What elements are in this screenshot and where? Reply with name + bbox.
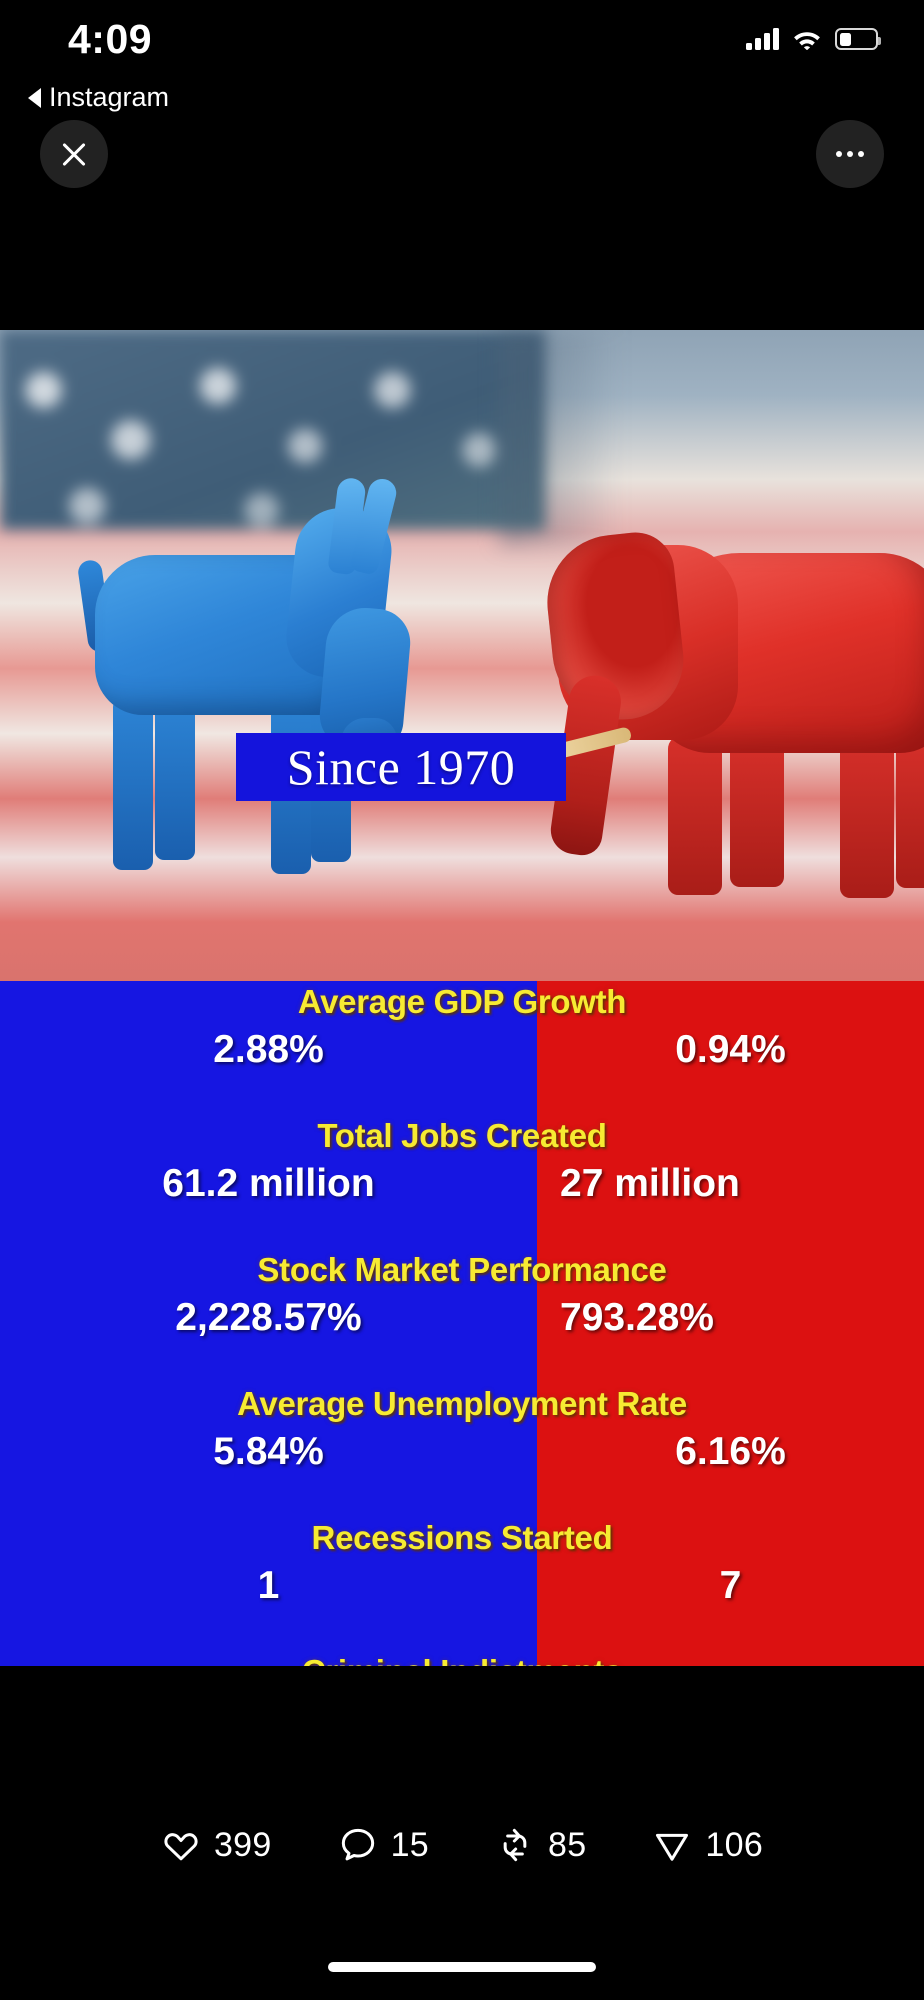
since-1970-label: Since 1970 [287,738,516,796]
democrat-value: 61.2 million [0,1162,537,1206]
comment-button[interactable]: 15 [338,1825,429,1865]
row-values: 17 [0,1564,924,1624]
repost-icon [495,1825,535,1865]
repost-count: 85 [548,1826,586,1865]
more-options-button[interactable] [816,120,884,188]
comparison-row: Criminal Indictments3272 [0,1651,924,1666]
democrat-value: 5.84% [0,1430,537,1474]
action-bar: 3991585106 [0,1790,924,1900]
republican-value: 7 [537,1564,924,1608]
row-values: 61.2 million27 million [0,1162,924,1222]
republican-value: 6.16% [537,1430,924,1474]
republican-value: 793.28% [560,1296,924,1340]
republican-value: 0.94% [537,1028,924,1072]
cellular-signal-icon [746,28,779,50]
blue-donkey-figurine [95,480,455,890]
democrat-value: 2,228.57% [0,1296,537,1340]
comment-count: 15 [391,1826,429,1865]
comparison-row: Recessions Started17 [0,1517,924,1651]
status-time: 4:09 [68,16,152,63]
share-count: 106 [705,1826,763,1865]
flag-photo [0,330,924,981]
row-label: Total Jobs Created [0,1117,924,1155]
share-button[interactable]: 106 [652,1825,763,1865]
instagram-reel-viewer: 4:09 Instagram [0,0,924,2000]
battery-icon [835,28,878,50]
home-indicator[interactable] [328,1962,596,1972]
comment-icon [338,1825,378,1865]
comparison-row: Total Jobs Created61.2 million27 million [0,1115,924,1249]
send-icon [652,1825,692,1865]
row-label: Recessions Started [0,1519,924,1557]
status-indicators [746,28,878,50]
close-icon [59,139,89,169]
comparison-row: Average GDP Growth2.88%0.94% [0,981,924,1115]
reel-media[interactable]: Since 1970 Average GDP Growth2.88%0.94%T… [0,256,924,1666]
row-label: Criminal Indictments [0,1653,924,1666]
like-button[interactable]: 399 [161,1825,272,1865]
democrat-value: 1 [0,1564,537,1608]
democrat-value: 2.88% [0,1028,537,1072]
red-elephant-figurine [540,505,924,895]
row-label: Average Unemployment Rate [0,1385,924,1423]
repost-button[interactable]: 85 [495,1825,586,1865]
like-count: 399 [214,1826,272,1865]
row-values: 2,228.57%793.28% [0,1296,924,1356]
back-to-instagram-link[interactable]: Instagram [28,82,169,113]
since-1970-banner: Since 1970 [236,733,566,801]
top-overlay-controls [0,120,924,190]
heart-icon [161,1825,201,1865]
row-values: 5.84%6.16% [0,1430,924,1490]
back-app-label: Instagram [49,82,169,113]
comparison-row: Average Unemployment Rate5.84%6.16% [0,1383,924,1517]
comparison-rows: Average GDP Growth2.88%0.94%Total Jobs C… [0,981,924,1666]
comparison-row: Stock Market Performance2,228.57%793.28% [0,1249,924,1383]
republican-value: 27 million [560,1162,924,1206]
more-options-icon [836,151,864,157]
wifi-icon [792,28,822,50]
close-button[interactable] [40,120,108,188]
row-values: 2.88%0.94% [0,1028,924,1088]
comparison-table: Average GDP Growth2.88%0.94%Total Jobs C… [0,981,924,1666]
back-caret-icon [28,88,41,108]
row-label: Average GDP Growth [0,983,924,1021]
row-label: Stock Market Performance [0,1251,924,1289]
